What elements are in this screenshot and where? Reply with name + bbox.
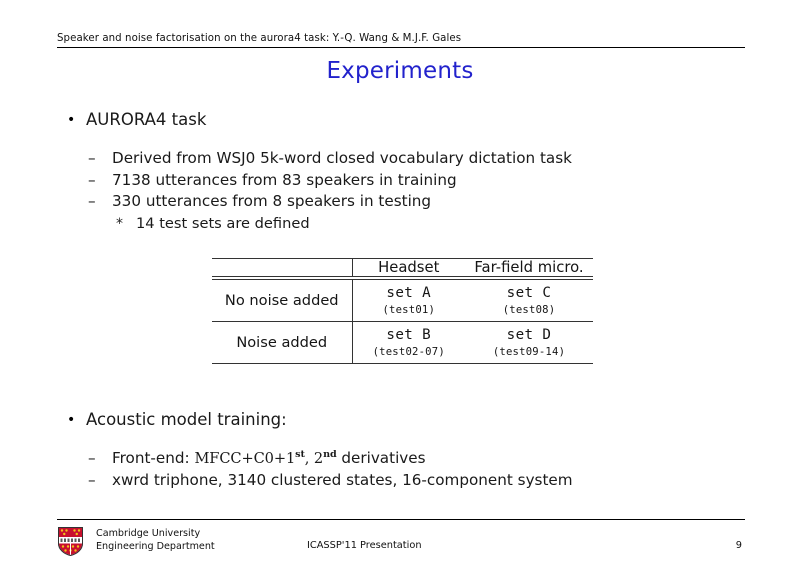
footer-org-line-2: Engineering Department — [96, 541, 215, 554]
front-end-suffix: derivatives — [337, 449, 426, 467]
subsubitem-test-sets-defined: * 14 test sets are defined — [116, 213, 800, 234]
formula-sup-a: st — [295, 449, 305, 460]
cell-set-a: set A (test01) — [352, 280, 465, 322]
table-row: No noise added set A (test01) set C (tes… — [212, 280, 593, 322]
subitem-label: 7138 utterances from 83 speakers in trai… — [112, 171, 457, 189]
formula-part-a: MFCC+C0+1 — [194, 450, 295, 467]
test-id: (test08) — [465, 301, 593, 321]
set-name: set A — [353, 280, 466, 301]
front-end-formula: MFCC+C0+1st, 2nd — [194, 450, 336, 467]
footer-conference-label: ICASSP'11 Presentation — [307, 540, 422, 551]
test-id: (test02-07) — [353, 343, 466, 363]
slide-body-lower: • Acoustic model training: – Front-end: … — [0, 408, 800, 491]
bullet-dot-icon: • — [67, 408, 75, 432]
running-title: Speaker and noise factorisation on the a… — [57, 33, 745, 44]
bullet-dot-icon: • — [67, 108, 75, 132]
subitem-testing-utterances: – 330 utterances from 8 speakers in test… — [88, 191, 800, 213]
subitem-training-utterances: – 7138 utterances from 83 speakers in tr… — [88, 170, 800, 192]
formula-part-b: , 2 — [305, 450, 323, 467]
dash-icon: – — [88, 470, 96, 492]
page-number: 9 — [736, 540, 742, 551]
test-sets-table-container: Headset Far-field micro. No noise added … — [212, 258, 593, 364]
subitem-front-end: – Front-end: MFCC+C0+1st, 2nd derivative… — [88, 448, 800, 470]
subsubitem-label: 14 test sets are defined — [136, 215, 310, 232]
table-row: Noise added set B (test02-07) set D (tes… — [212, 322, 593, 364]
footer-organisation: Cambridge University Engineering Departm… — [96, 528, 215, 553]
subitem-xwrd-triphone: – xwrd triphone, 3140 clustered states, … — [88, 470, 800, 492]
cell-set-b: set B (test02-07) — [352, 322, 465, 364]
subitem-derived-from-wsj0: – Derived from WSJ0 5k-word closed vocab… — [88, 148, 800, 170]
front-end-prefix: Front-end: — [112, 449, 194, 467]
slide-footer: Cambridge University Engineering Departm… — [57, 519, 745, 560]
dash-icon: – — [88, 170, 96, 192]
table-corner-cell — [212, 259, 352, 277]
dash-icon: – — [88, 148, 96, 170]
cell-set-c: set C (test08) — [465, 280, 593, 322]
set-name: set B — [353, 322, 466, 343]
cell-set-d: set D (test09-14) — [465, 322, 593, 364]
formula-sup-b: nd — [323, 449, 336, 460]
bullet-acoustic-label: Acoustic model training: — [86, 410, 287, 429]
subitem-label: xwrd triphone, 3140 clustered states, 16… — [112, 471, 573, 489]
table-header-row: Headset Far-field micro. — [212, 259, 593, 277]
row-label-noise-added: Noise added — [212, 322, 352, 364]
cambridge-crest-icon — [58, 527, 83, 556]
test-id: (test09-14) — [465, 343, 593, 363]
slide-body: • AURORA4 task – Derived from WSJ0 5k-wo… — [0, 108, 800, 234]
test-id: (test01) — [353, 301, 466, 321]
slide-header: Speaker and noise factorisation on the a… — [57, 33, 745, 48]
row-label-no-noise: No noise added — [212, 280, 352, 322]
footer-org-line-1: Cambridge University — [96, 528, 215, 541]
table-bottom-rule — [212, 364, 593, 365]
subitem-label: 330 utterances from 8 speakers in testin… — [112, 192, 431, 210]
set-name: set C — [465, 280, 593, 301]
subitem-label: Derived from WSJ0 5k-word closed vocabul… — [112, 149, 572, 167]
test-sets-table: Headset Far-field micro. No noise added … — [212, 258, 593, 364]
bullet-aurora4-label: AURORA4 task — [86, 110, 206, 129]
page-title: Experiments — [0, 58, 800, 84]
column-header-headset: Headset — [352, 259, 465, 277]
set-name: set D — [465, 322, 593, 343]
dash-icon: – — [88, 448, 96, 470]
bullet-acoustic-model-training: • Acoustic model training: — [64, 408, 800, 432]
presentation-slide: Speaker and noise factorisation on the a… — [0, 0, 800, 565]
column-header-far-field: Far-field micro. — [465, 259, 593, 277]
dash-icon: – — [88, 191, 96, 213]
bullet-aurora4-task: • AURORA4 task — [64, 108, 800, 132]
asterisk-icon: * — [116, 214, 123, 235]
